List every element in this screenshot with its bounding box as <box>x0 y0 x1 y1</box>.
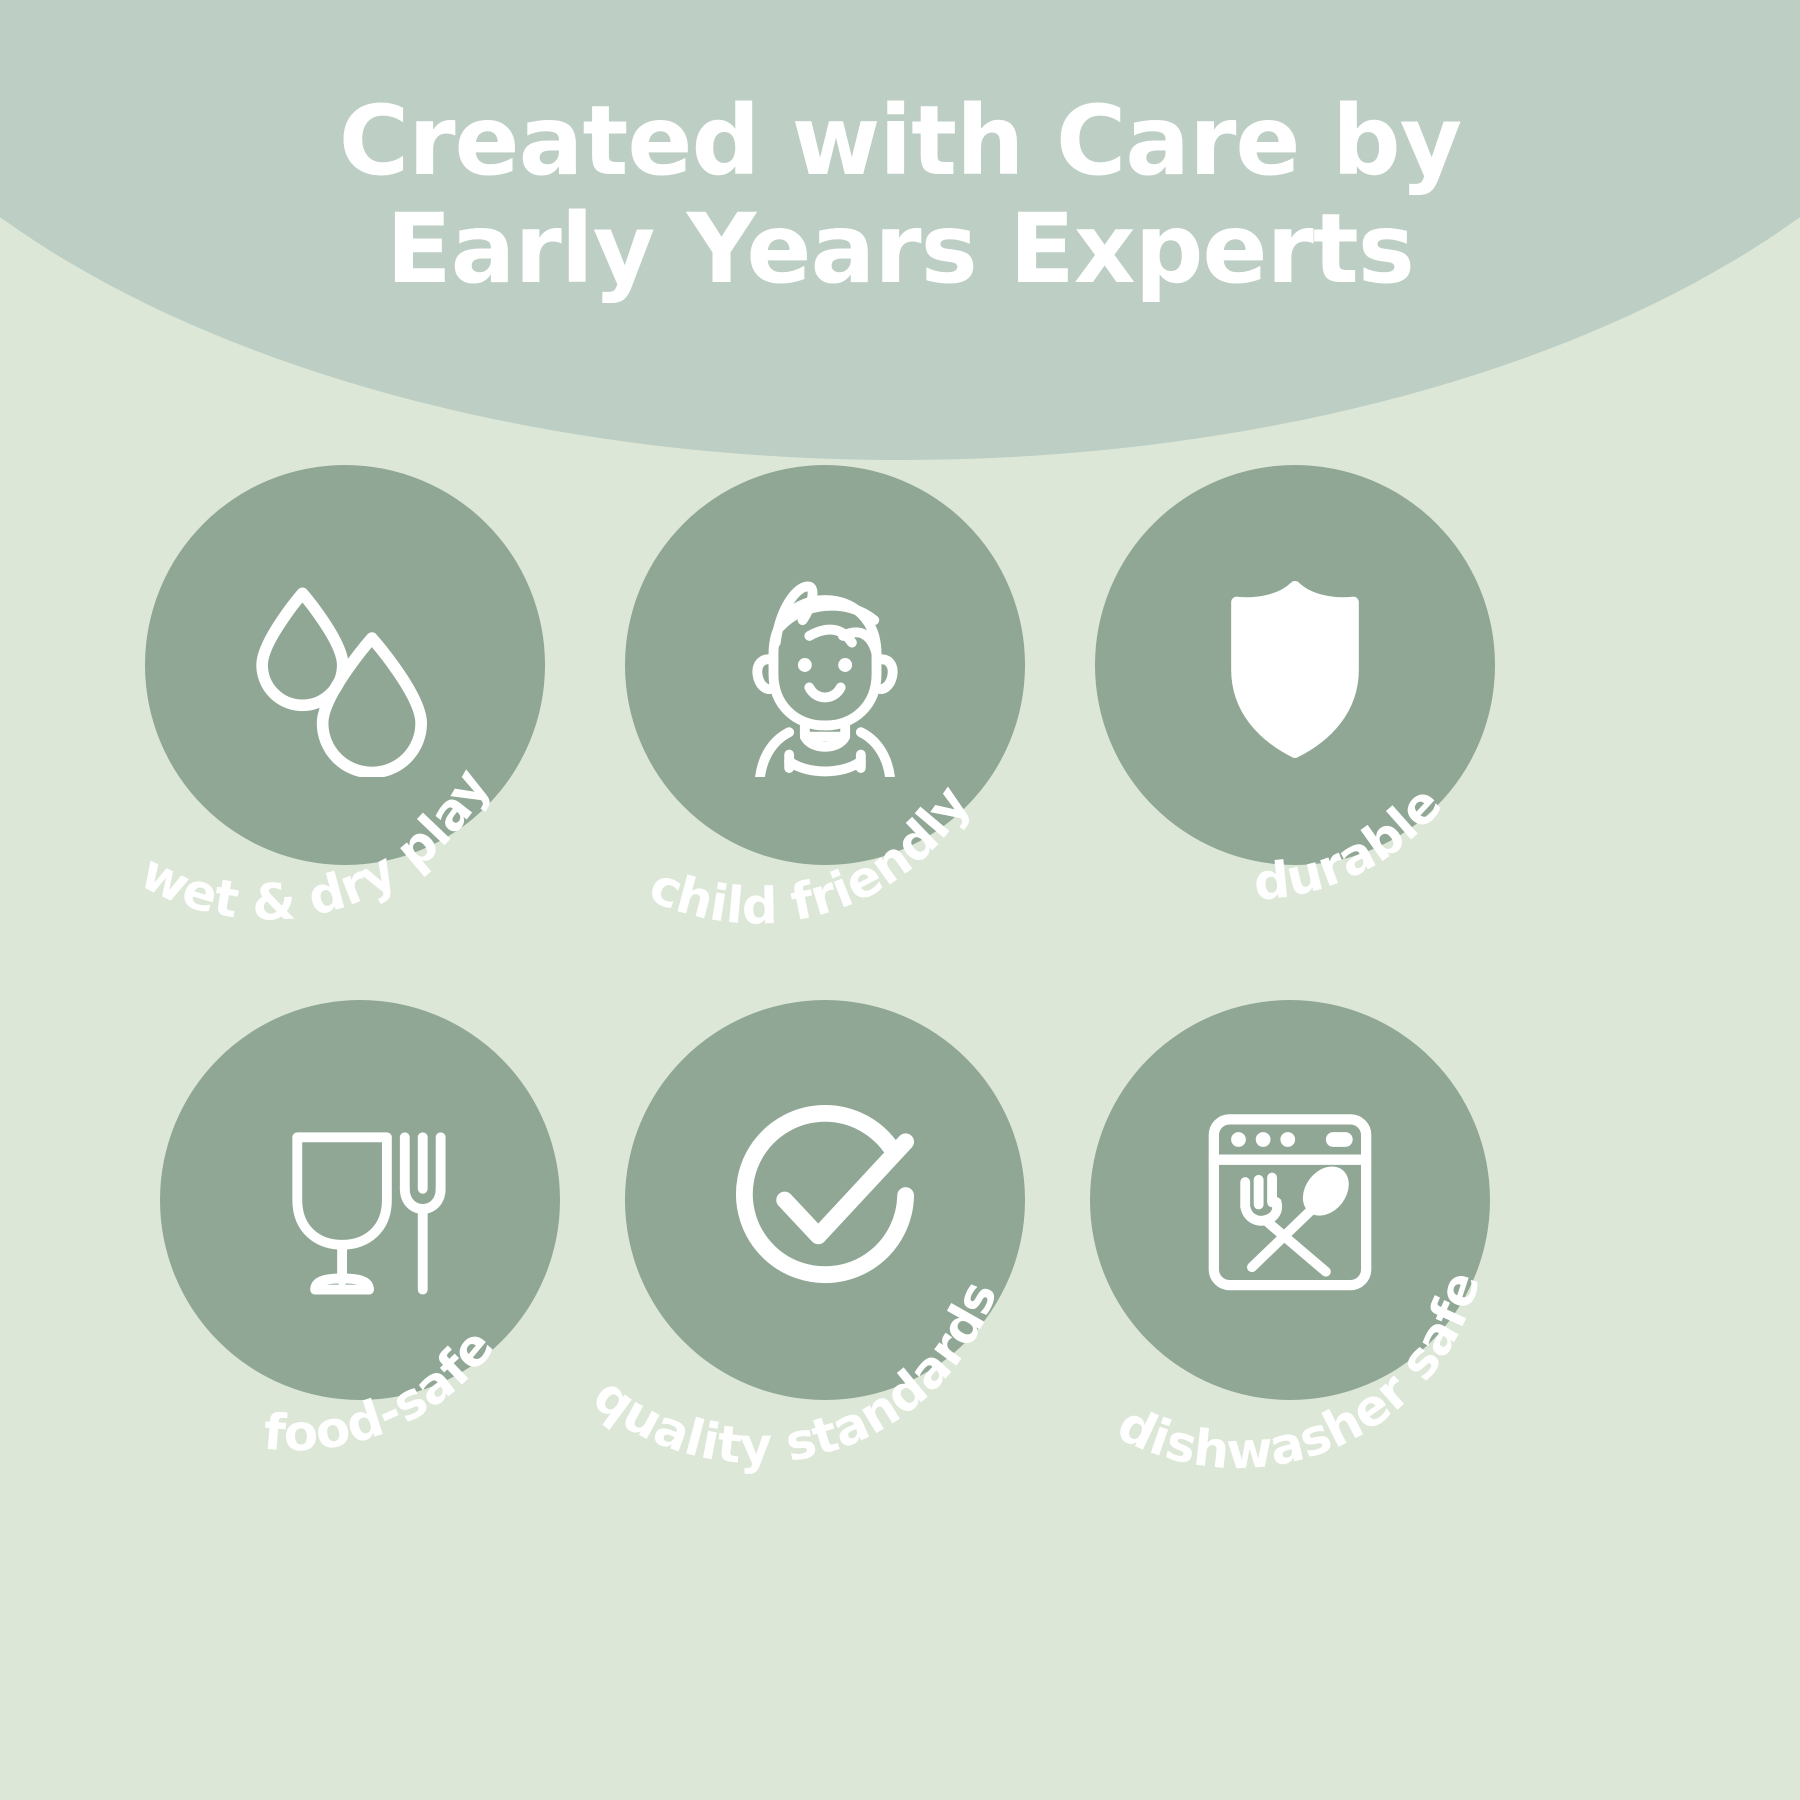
feature-icon-circle <box>1090 1000 1490 1400</box>
page-title-line-1: Created with Care by <box>0 88 1800 196</box>
feature-icon-circle <box>1095 465 1495 865</box>
feature-icon-circle <box>625 465 1025 865</box>
feature-card-wet-dry-play[interactable]: wet & dry play <box>65 465 625 1025</box>
dishwasher-icon <box>1178 1088 1402 1312</box>
feature-card-durable[interactable]: durable <box>1015 465 1575 1025</box>
check-circle-icon <box>713 1088 937 1312</box>
page-title: Created with Care by Early Years Experts <box>0 88 1800 303</box>
feature-card-dishwasher-safe[interactable]: dishwasher safe <box>1010 1000 1570 1560</box>
feature-icon-circle <box>625 1000 1025 1400</box>
water-drops-icon <box>233 553 457 777</box>
poster-canvas: Created with Care by Early Years Experts… <box>0 0 1800 1800</box>
shield-icon <box>1183 553 1407 777</box>
glass-and-fork-icon <box>248 1088 472 1312</box>
child-face-icon <box>713 553 937 777</box>
feature-icon-circle <box>145 465 545 865</box>
feature-icon-circle <box>160 1000 560 1400</box>
page-title-line-2: Early Years Experts <box>0 196 1800 304</box>
